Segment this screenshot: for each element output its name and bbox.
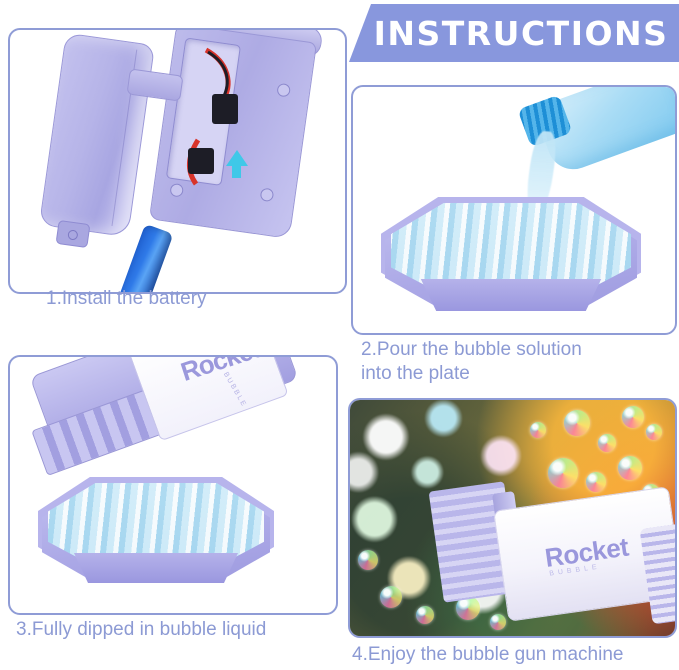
- battery-cover: [39, 33, 155, 238]
- instructions-banner: INSTRUCTIONS: [349, 4, 679, 62]
- battery-cover-latch: [55, 220, 90, 248]
- bubble: [380, 586, 402, 608]
- lithium-battery: [112, 224, 173, 294]
- bubble: [564, 410, 590, 436]
- bubble: [358, 550, 378, 570]
- insert-arrow-stem: [232, 164, 241, 178]
- bubble: [646, 424, 662, 440]
- step1-illustration: [10, 30, 345, 292]
- wire-connector-male: [212, 94, 238, 124]
- bubble: [530, 422, 546, 438]
- bubble: [586, 472, 606, 492]
- step-4-caption: 4.Enjoy the bubble gun machine: [352, 643, 623, 667]
- bubble: [416, 606, 434, 624]
- brand-subtitle-text: BUBBLE: [222, 371, 248, 409]
- step-3-caption: 3.Fully dipped in bubble liquid: [16, 618, 266, 642]
- bubble: [622, 406, 644, 428]
- plate-base: [56, 553, 256, 583]
- panel-pour-solution: [351, 85, 677, 335]
- step-2-caption: 2.Pour the bubble solution into the plat…: [361, 338, 582, 386]
- panel-install-battery: [8, 28, 347, 294]
- panel-enjoy: Rocket BUBBLE: [348, 398, 677, 638]
- step-1-caption: 1.Install the battery: [46, 287, 207, 311]
- bubble: [490, 614, 506, 630]
- panel-dip-nozzle: Rocket BUBBLE: [8, 355, 338, 615]
- bubble: [548, 458, 578, 488]
- brand-name-text: Rocket: [177, 355, 263, 388]
- plate-base: [401, 279, 621, 311]
- bubble: [618, 456, 642, 480]
- step3-illustration: Rocket BUBBLE: [10, 357, 336, 613]
- bubble: [598, 434, 616, 452]
- step2-illustration: [353, 87, 675, 333]
- wire-connector-female: [188, 148, 214, 174]
- step4-illustration: Rocket BUBBLE: [350, 400, 675, 636]
- banner-title: INSTRUCTIONS: [360, 17, 669, 50]
